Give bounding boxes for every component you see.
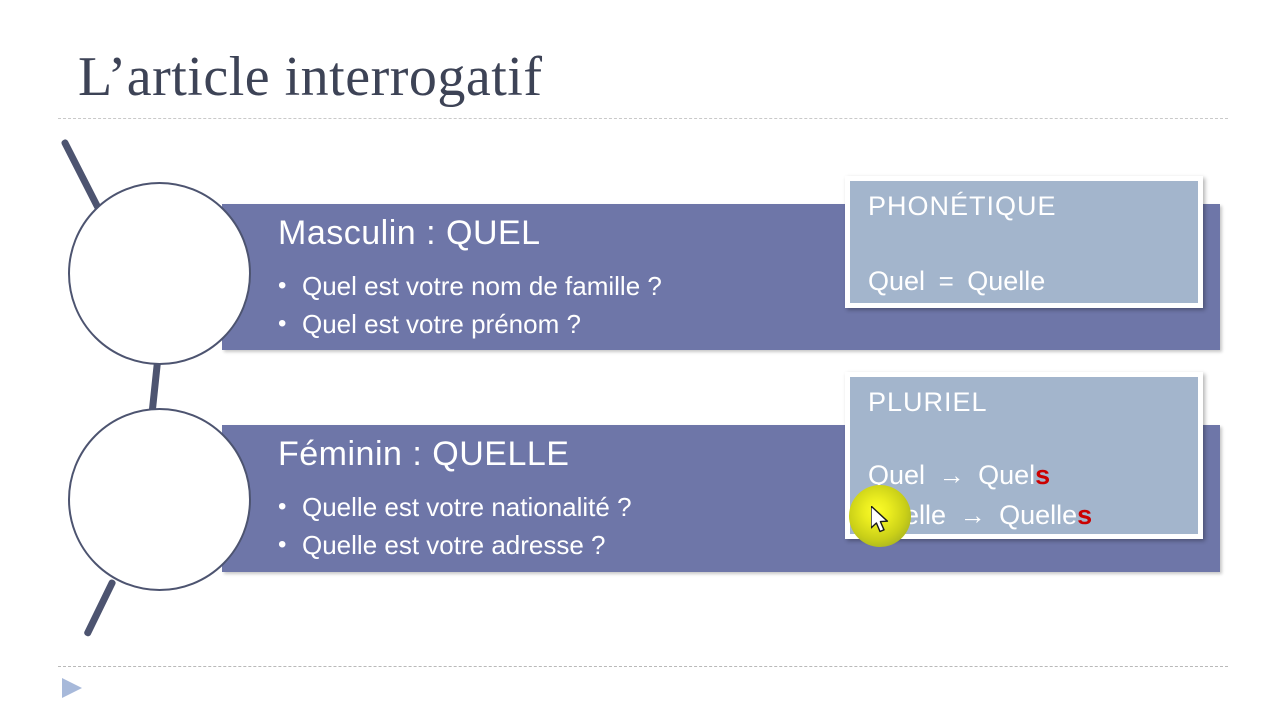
line-right: Quel	[978, 460, 1035, 490]
list-item: • Quelle est votre adresse ?	[272, 526, 632, 564]
play-triangle-icon[interactable]	[62, 678, 82, 698]
line-left: Quel	[868, 266, 925, 296]
bullet-icon: •	[278, 526, 286, 564]
list-item-label: Quelle est votre nationalité ?	[302, 492, 632, 522]
plural-suffix: s	[1077, 500, 1092, 530]
bullet-icon: •	[278, 488, 286, 526]
decorative-circle-top	[68, 182, 251, 365]
plural-suffix: s	[1035, 460, 1050, 490]
page-title: L’article interrogatif	[78, 46, 543, 108]
arrow-right-icon: →	[933, 460, 971, 490]
list-item: • Quel est votre prénom ?	[272, 305, 662, 343]
bar-heading-masculine: Masculin : QUEL	[278, 214, 541, 253]
line-right: Quelle	[999, 500, 1077, 530]
connector-line-top	[60, 138, 102, 211]
list-item-label: Quelle est votre adresse ?	[302, 530, 606, 560]
arrow-right-icon: →	[954, 500, 992, 530]
list-item-label: Quel est votre prénom ?	[302, 309, 581, 339]
title-divider	[58, 118, 1228, 119]
list-item-label: Quel est votre nom de famille ?	[302, 271, 662, 301]
infobox-line: Quel → Quels	[868, 455, 1092, 495]
slide-canvas: L’article interrogatif Masculin : QUEL •…	[0, 0, 1286, 720]
infobox-title-pluriel: PLURIEL	[868, 387, 988, 418]
bullet-list-masculine: • Quel est votre nom de famille ? • Quel…	[272, 267, 662, 343]
infobox-phonetique: PHONÉTIQUE Quel = Quelle	[845, 176, 1203, 308]
infobox-line: Quelle → Quelles	[868, 495, 1092, 535]
footer-divider	[58, 666, 1228, 667]
bullet-list-feminine: • Quelle est votre nationalité ? • Quell…	[272, 488, 632, 564]
infobox-title-phonetique: PHONÉTIQUE	[868, 191, 1057, 222]
bullet-icon: •	[278, 305, 286, 343]
mouse-pointer-icon	[871, 506, 891, 536]
bullet-icon: •	[278, 267, 286, 305]
list-item: • Quel est votre nom de famille ?	[272, 267, 662, 305]
line-right: Quelle	[967, 266, 1045, 296]
line-left: Quel	[868, 460, 925, 490]
infobox-pluriel: PLURIEL Quel → Quels Quelle → Quelles	[845, 372, 1203, 539]
infobox-body-phonetique: Quel = Quelle	[868, 261, 1045, 301]
infobox-line: Quel = Quelle	[868, 261, 1045, 301]
bar-heading-feminine: Féminin : QUELLE	[278, 435, 569, 474]
list-item: • Quelle est votre nationalité ?	[272, 488, 632, 526]
connector-line-bottom	[83, 578, 116, 637]
equals-icon: =	[933, 266, 960, 296]
decorative-circle-bottom	[68, 408, 251, 591]
infobox-body-pluriel: Quel → Quels Quelle → Quelles	[868, 455, 1092, 535]
